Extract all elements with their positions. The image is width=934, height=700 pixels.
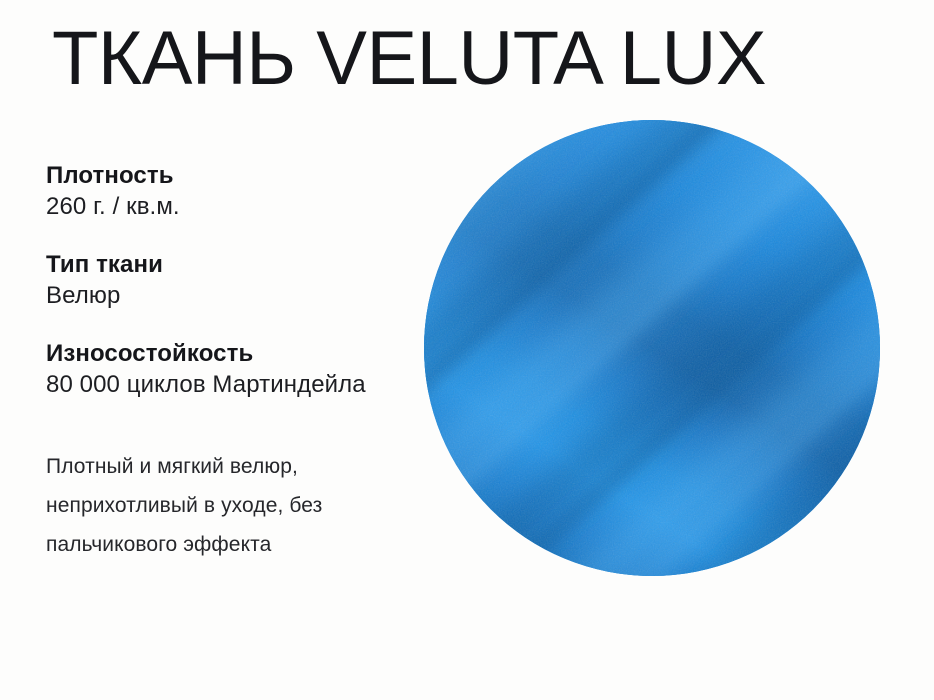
spec-value-fabric-type: Велюр bbox=[46, 280, 426, 312]
fabric-description: Плотный и мягкий велюр, неприхотливый в … bbox=[46, 447, 441, 564]
spec-list: Плотность 260 г. / кв.м. Тип ткани Велюр… bbox=[46, 160, 426, 401]
spec-item-fabric-type: Тип ткани Велюр bbox=[46, 249, 426, 312]
page-title: ТКАНЬ VELUTA LUX bbox=[52, 16, 766, 102]
fabric-spec-card: ТКАНЬ VELUTA LUX Плотность 260 г. / кв.м… bbox=[0, 0, 934, 700]
fabric-texture-image bbox=[424, 120, 880, 576]
spec-value-density: 260 г. / кв.м. bbox=[46, 191, 426, 223]
spec-label-density: Плотность bbox=[46, 160, 426, 191]
spec-item-durability: Износостойкость 80 000 циклов Мартиндейл… bbox=[46, 338, 426, 401]
spec-value-durability: 80 000 циклов Мартиндейла bbox=[46, 369, 426, 401]
spec-item-density: Плотность 260 г. / кв.м. bbox=[46, 160, 426, 223]
spec-label-durability: Износостойкость bbox=[46, 338, 426, 369]
spec-label-fabric-type: Тип ткани bbox=[46, 249, 426, 280]
fabric-swatch-velour-blue bbox=[424, 120, 880, 576]
